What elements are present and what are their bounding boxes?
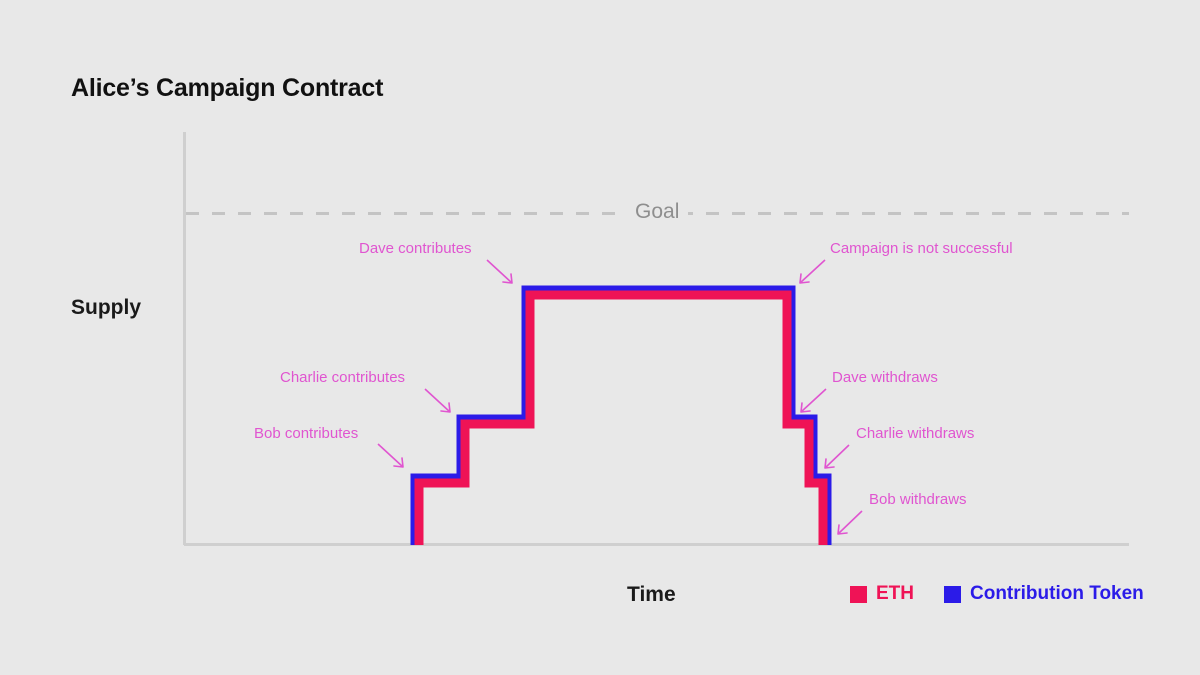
annotation-bob-contributes: Bob contributes: [254, 425, 358, 442]
annotation-charlie-withdraws: Charlie withdraws: [856, 425, 974, 442]
eth-line: [419, 295, 823, 545]
chart-svg: [0, 0, 1200, 675]
chart-container: Alice’s Campaign Contract Supply Time: [0, 0, 1200, 675]
eth-swatch: [850, 586, 867, 603]
annotation-dave-withdraws: Dave withdraws: [832, 369, 938, 386]
legend-label-eth: ETH: [876, 583, 914, 605]
annotation-dave-contributes: Dave contributes: [359, 240, 472, 257]
annotation-bob-withdraws: Bob withdraws: [869, 491, 967, 508]
legend-label-contribution-token: Contribution Token: [970, 583, 1144, 605]
chart-legend: ETH Contribution Token: [850, 583, 1144, 605]
annotation-charlie-contributes: Charlie contributes: [280, 369, 405, 386]
goal-label: Goal: [626, 200, 688, 224]
contribution-token-swatch: [944, 586, 961, 603]
contribution-token-line: [415, 290, 827, 545]
legend-item-contribution-token[interactable]: Contribution Token: [944, 583, 1144, 605]
annotation-campaign-not-successful: Campaign is not successful: [830, 240, 1013, 257]
legend-item-eth[interactable]: ETH: [850, 583, 914, 605]
